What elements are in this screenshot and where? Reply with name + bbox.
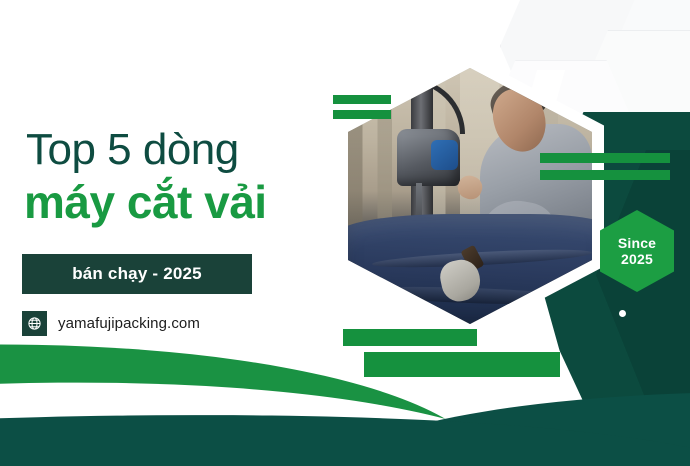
promo-banner: Since 2025 Top 5 dòng máy cắt vải bán ch… xyxy=(0,0,690,466)
accent-bar-bottom-1 xyxy=(343,329,477,346)
accent-bar-top-left-1 xyxy=(333,95,391,104)
globe-icon xyxy=(22,311,47,336)
headline-line-1: Top 5 dòng xyxy=(26,128,239,172)
since-badge-line2: 2025 xyxy=(621,251,653,267)
headline-line-2: máy cắt vải xyxy=(24,179,267,225)
accent-bar-top-left-2 xyxy=(333,110,391,119)
accent-bar-top-right-2 xyxy=(540,170,670,180)
website-row[interactable]: yamafujipacking.com xyxy=(22,311,200,336)
decorative-dot xyxy=(619,310,626,317)
subtitle-text: bán chạy - 2025 xyxy=(72,264,202,284)
accent-bar-bottom-2 xyxy=(364,352,560,377)
accent-bar-top-right-1 xyxy=(540,153,670,163)
subtitle-box: bán chạy - 2025 xyxy=(22,254,252,294)
since-badge-line1: Since xyxy=(618,235,656,251)
website-url[interactable]: yamafujipacking.com xyxy=(58,315,200,332)
